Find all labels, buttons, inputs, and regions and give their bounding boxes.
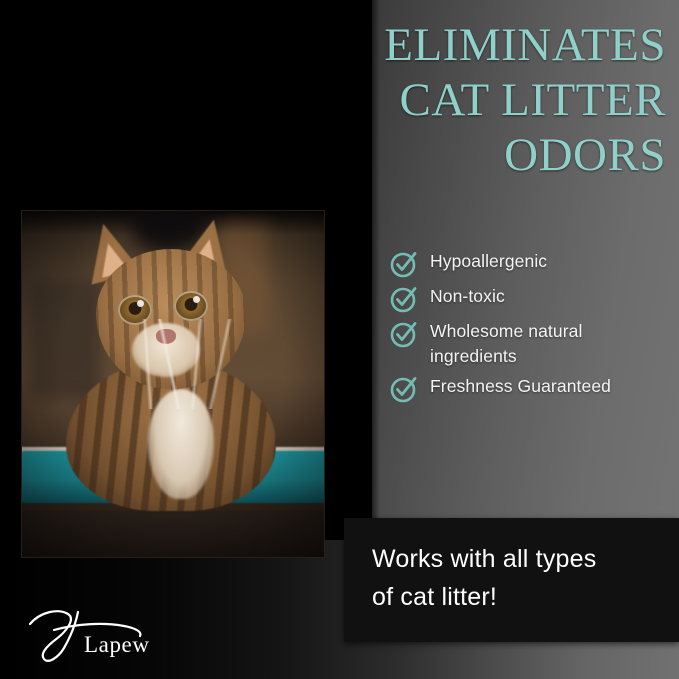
headline-line-3: ODORS [300,128,666,183]
benefit-item: Non-toxic [390,284,670,314]
kitten-in-litter-box-photo [22,211,324,557]
benefits-list: Hypoallergenic Non-toxic Wholesome natur… [390,249,670,409]
kitten-eye-right [174,291,208,321]
brand-name: Lapew [84,632,150,658]
benefit-label: Non-toxic [430,284,505,309]
callout-text: Works with all types of cat litter! [372,540,664,616]
benefit-item: Hypoallergenic [390,249,670,279]
benefit-label: Hypoallergenic [430,249,547,274]
benefit-item: Wholesome natural ingredients [390,319,670,369]
brand-logo: Lapew [24,606,194,668]
product-infographic-poster: ELIMINATES CAT LITTER ODORS [0,0,679,679]
headline-line-1: ELIMINATES [300,18,666,73]
kitten-eye-left [118,295,152,325]
headline: ELIMINATES CAT LITTER ODORS [300,18,666,183]
benefit-item: Freshness Guaranteed [390,374,670,404]
kitten-nose [156,329,176,344]
check-circle-icon [390,250,418,278]
check-circle-icon [390,375,418,403]
check-circle-icon [390,285,418,313]
cat-litter-granules [22,473,324,521]
benefit-label: Wholesome natural ingredients [430,319,658,369]
benefit-label: Freshness Guaranteed [430,374,611,399]
check-circle-icon [390,320,418,348]
callout-line-2: of cat litter! [372,578,664,616]
callout-line-1: Works with all types [372,540,664,578]
headline-line-2: CAT LITTER [300,73,666,128]
compatibility-callout-box: Works with all types of cat litter! [344,518,679,642]
